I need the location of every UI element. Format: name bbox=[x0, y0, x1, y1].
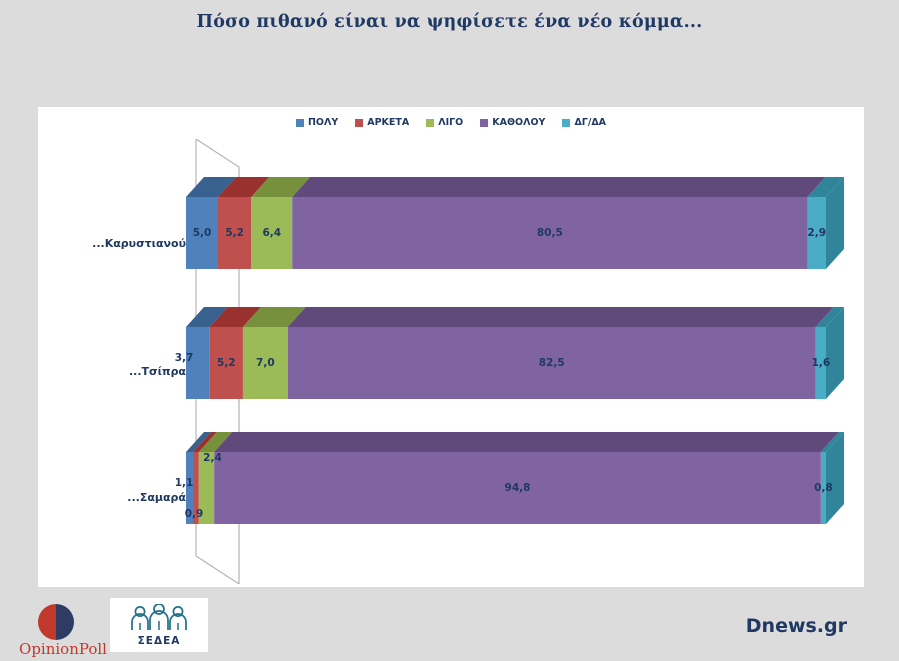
sedea-label: ΣΕΔΕΑ bbox=[138, 635, 181, 647]
bar-value-label: 0,9 bbox=[185, 508, 204, 520]
bar-value-label: 1,6 bbox=[812, 357, 831, 369]
legend-swatch-icon bbox=[296, 119, 304, 127]
opinionpoll-label: OpinionPoll bbox=[14, 640, 112, 658]
bar-row: 1,10,92,494,80,8 bbox=[186, 452, 826, 524]
sedea-logo: ΣΕΔΕΑ bbox=[110, 598, 208, 652]
bar-value-label: 5,2 bbox=[225, 227, 244, 239]
bar-value-label: 0,8 bbox=[814, 482, 833, 494]
stacked-bar-3d bbox=[186, 307, 848, 403]
legend-swatch-icon bbox=[562, 119, 570, 127]
bar-segment-top-ΚΑΘΟΛΟΥ bbox=[292, 177, 825, 197]
page-title: Πόσο πιθανό είναι να ψηφίσετε ένα νέο κό… bbox=[0, 12, 899, 32]
bar-value-label: 1,1 bbox=[175, 477, 194, 489]
legend-swatch-icon bbox=[426, 119, 434, 127]
opinionpoll-mark-icon bbox=[36, 602, 76, 642]
bar-segment-top-ΚΑΘΟΛΟΥ bbox=[288, 307, 834, 327]
bar-value-label: 7,0 bbox=[256, 357, 275, 369]
stacked-bar-3d bbox=[186, 177, 848, 273]
bar-value-label: 82,5 bbox=[539, 357, 565, 369]
bar-value-label: 80,5 bbox=[537, 227, 563, 239]
bar-value-label: 5,0 bbox=[193, 227, 212, 239]
legend-label: ΑΡΚΕΤΑ bbox=[367, 117, 409, 128]
legend-label: ΔΓ/ΔΑ bbox=[574, 117, 606, 128]
legend-swatch-icon bbox=[480, 119, 488, 127]
bar-row: 3,75,27,082,51,6 bbox=[186, 327, 826, 399]
category-label-1: ...Τσίπρα bbox=[66, 365, 186, 378]
opinionpoll-logo: OpinionPoll bbox=[14, 600, 104, 658]
legend-item-ΚΑΘΟΛΟΥ[interactable]: ΚΑΘΟΛΟΥ bbox=[480, 117, 545, 128]
category-label-2: ...Σαμαρά bbox=[66, 491, 186, 504]
bar-value-label: 2,4 bbox=[203, 452, 222, 464]
sedea-people-icon bbox=[127, 604, 191, 634]
legend-swatch-icon bbox=[355, 119, 363, 127]
legend-item-ΠΟΛΥ[interactable]: ΠΟΛΥ bbox=[296, 117, 338, 128]
category-label-0: ...Καρυστιανού bbox=[66, 237, 186, 250]
bar-segment-top-ΚΑΘΟΛΟΥ bbox=[214, 432, 839, 452]
footer: OpinionPoll ΣΕΔΕΑ Dnews.gr bbox=[0, 595, 899, 661]
bar-value-label: 94,8 bbox=[505, 482, 531, 494]
legend-item-ΔΓ/ΔΑ[interactable]: ΔΓ/ΔΑ bbox=[562, 117, 606, 128]
legend-item-ΛΙΓΟ[interactable]: ΛΙΓΟ bbox=[426, 117, 463, 128]
stacked-bar-3d bbox=[186, 432, 848, 528]
bar-value-label: 2,9 bbox=[807, 227, 826, 239]
bar-value-label: 5,2 bbox=[217, 357, 236, 369]
bar-value-label: 6,4 bbox=[262, 227, 281, 239]
legend-label: ΛΙΓΟ bbox=[438, 117, 463, 128]
legend-item-ΑΡΚΕΤΑ[interactable]: ΑΡΚΕΤΑ bbox=[355, 117, 409, 128]
category-axis: ...Καρυστιανού...Τσίπρα...Σαμαρά bbox=[38, 107, 186, 587]
bar-value-label: 3,7 bbox=[175, 352, 194, 364]
source-label: Dnews.gr bbox=[746, 615, 847, 637]
chart-card: ΠΟΛΥΑΡΚΕΤΑΛΙΓΟΚΑΘΟΛΟΥΔΓ/ΔΑ ...Καρυστιανο… bbox=[38, 107, 864, 587]
bar-row: 5,05,26,480,52,9 bbox=[186, 197, 826, 269]
legend-label: ΠΟΛΥ bbox=[308, 117, 338, 128]
legend-label: ΚΑΘΟΛΟΥ bbox=[492, 117, 545, 128]
